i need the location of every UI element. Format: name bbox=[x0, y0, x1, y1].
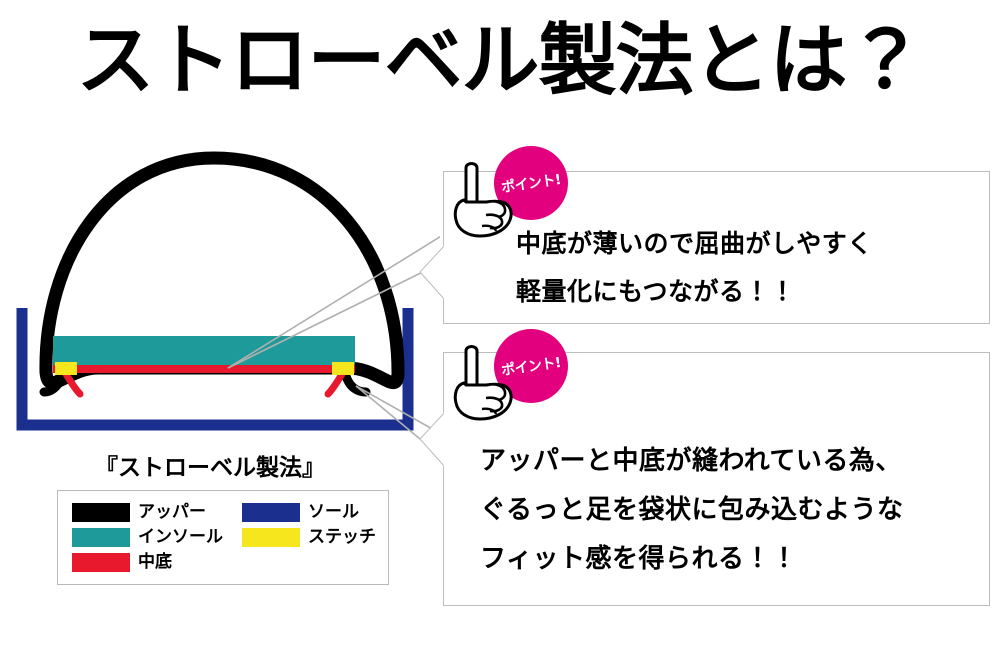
legend-swatch-insole bbox=[72, 528, 130, 547]
legend-swatch-midsole bbox=[72, 553, 130, 572]
legend-swatch-sole bbox=[242, 503, 300, 522]
shoe-cross-section-diagram bbox=[0, 140, 440, 460]
legend-item-insole: インソール bbox=[58, 528, 228, 547]
callout-2-line-3: フィット感を得られる！！ bbox=[480, 535, 975, 584]
page-title: ストローベル製法とは？ bbox=[0, 22, 1000, 100]
legend-swatch-stitch bbox=[242, 528, 300, 547]
callout-text-1: 中底が薄いので屈曲がしやすく 軽量化にもつながる！！ bbox=[516, 220, 975, 316]
callout-tail-1 bbox=[419, 244, 445, 300]
diagram-caption: 『ストローベル製法』 bbox=[0, 448, 420, 482]
legend-swatch-upper bbox=[72, 503, 130, 522]
materials-legend: アッパー ソール インソール ステッチ 中底 bbox=[57, 490, 389, 585]
point-badge-label-1: ポイント! bbox=[489, 141, 573, 225]
point-badge-1: ポイント! bbox=[452, 146, 584, 254]
legend-label-sole: ソール bbox=[308, 504, 359, 521]
point-badge-label-2: ポイント! bbox=[489, 324, 573, 408]
callout-tail-2 bbox=[419, 411, 445, 467]
legend-item-stitch: ステッチ bbox=[228, 528, 390, 547]
legend-label-stitch: ステッチ bbox=[308, 529, 376, 546]
callout-text-2: アッパーと中底が縫われている為、 ぐるっと足を袋状に包み込むような フィット感を… bbox=[480, 437, 975, 584]
legend-item-midsole: 中底 bbox=[58, 553, 228, 572]
callout-1-line-1: 中底が薄いので屈曲がしやすく bbox=[516, 220, 975, 268]
legend-label-midsole: 中底 bbox=[138, 554, 172, 571]
insole-shape bbox=[53, 336, 355, 366]
legend-item-upper: アッパー bbox=[58, 503, 228, 522]
legend-item-sole: ソール bbox=[228, 503, 390, 522]
midsole-shape bbox=[53, 365, 355, 373]
legend-label-insole: インソール bbox=[138, 529, 223, 546]
callout-2-line-1: アッパーと中底が縫われている為、 bbox=[480, 437, 975, 486]
point-badge-2: ポイント! bbox=[452, 329, 584, 437]
callout-2-line-2: ぐるっと足を袋状に包み込むような bbox=[480, 486, 975, 535]
callout-1-line-2: 軽量化にもつながる！！ bbox=[516, 268, 975, 316]
legend-label-upper: アッパー bbox=[138, 504, 206, 521]
